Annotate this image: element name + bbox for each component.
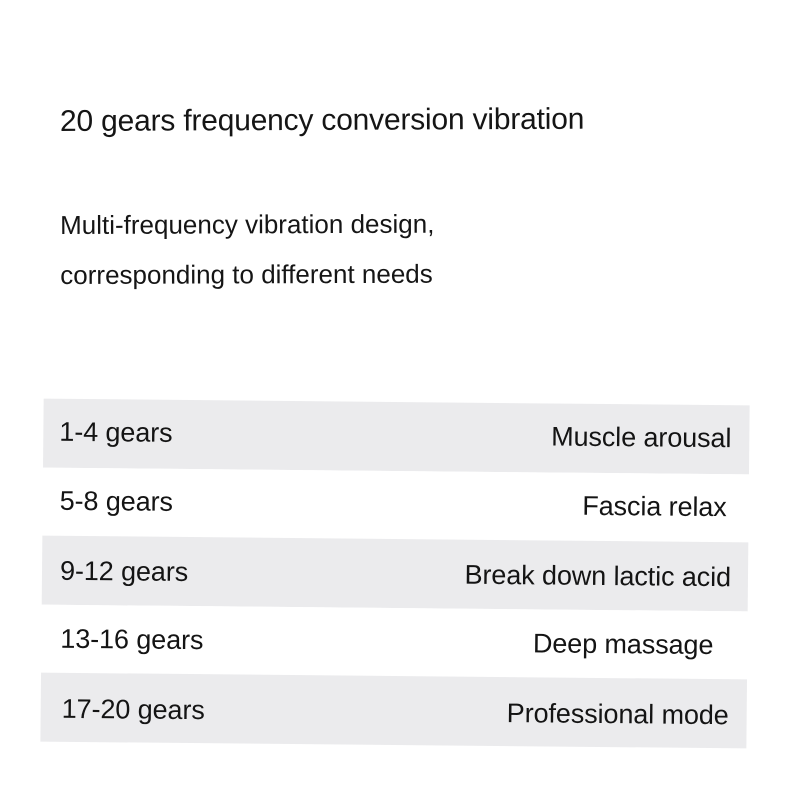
page-subtitle: Multi-frequency vibration design, corres…	[60, 199, 435, 300]
gear-level-table: 1-4 gears Muscle arousal 5-8 gears Fasci…	[40, 399, 749, 752]
table-row: 5-8 gears Fascia relax	[42, 467, 749, 542]
gear-effect-label: Muscle arousal	[551, 421, 731, 454]
subtitle-line-2: corresponding to different needs	[60, 249, 434, 300]
page-title: 20 gears frequency conversion vibration	[60, 103, 584, 139]
subtitle-line-1: Multi-frequency vibration design,	[60, 199, 434, 250]
table-row: 17-20 gears Professional mode	[40, 673, 747, 748]
gear-effect-label: Deep massage	[533, 629, 714, 662]
gear-effect-label: Fascia relax	[582, 491, 727, 523]
gear-range-label: 9-12 gears	[60, 556, 188, 588]
product-info-page: 20 gears frequency conversion vibration …	[0, 0, 790, 790]
table-row: 1-4 gears Muscle arousal	[43, 399, 750, 474]
table-row: 13-16 gears Deep massage	[41, 604, 748, 679]
table-row: 9-12 gears Break down lactic acid	[42, 536, 749, 611]
gear-range-label: 17-20 gears	[62, 694, 205, 726]
gear-effect-label: Professional mode	[507, 698, 729, 731]
gear-range-label: 13-16 gears	[60, 624, 203, 656]
gear-effect-label: Break down lactic acid	[464, 559, 731, 593]
gear-range-label: 1-4 gears	[59, 417, 172, 449]
gear-range-label: 5-8 gears	[60, 486, 173, 518]
